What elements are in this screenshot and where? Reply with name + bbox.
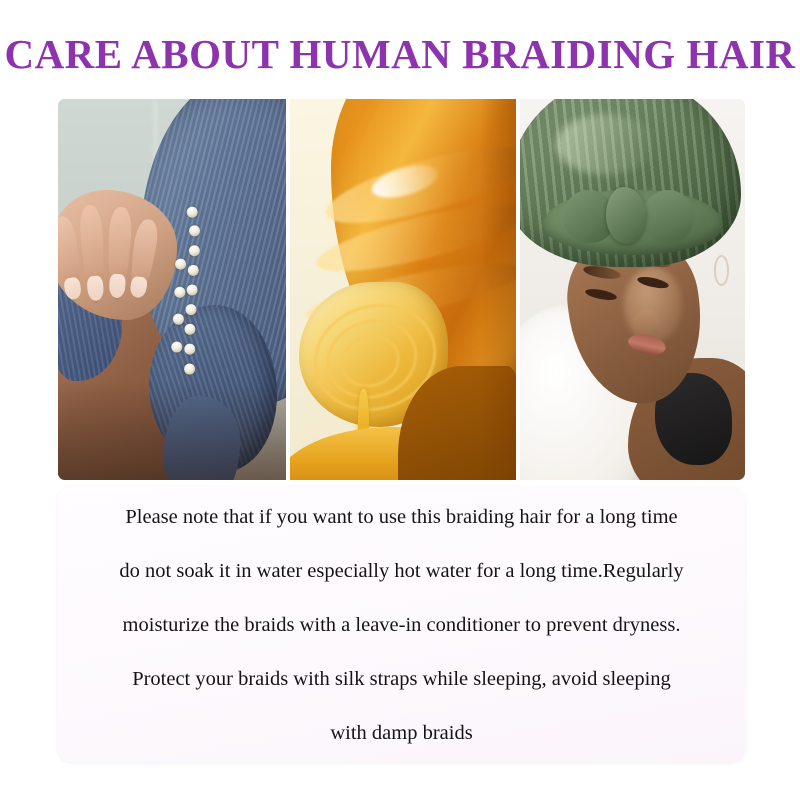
panel1-finger <box>79 204 108 304</box>
pearl-bead <box>183 322 197 336</box>
pearl-bead <box>187 263 201 277</box>
panel2-edge-shadow <box>480 99 516 480</box>
panel1-bottom-shadow <box>58 381 286 480</box>
pearl-bead <box>170 340 184 354</box>
gallery-image-hand-head-wrap <box>58 99 286 480</box>
panel3-bow-knot <box>606 187 647 244</box>
pearl-bead <box>186 205 200 219</box>
pearl-bead <box>188 223 202 237</box>
pearl-bead <box>188 243 202 257</box>
care-instruction-line: Please note that if you want to use this… <box>76 490 727 544</box>
image-gallery-strip <box>58 99 745 480</box>
pearl-bead <box>174 257 188 271</box>
care-instruction-line: with damp braids <box>76 706 727 760</box>
panel1-finger <box>105 207 132 301</box>
poster-root: CARE ABOUT HUMAN BRAIDING HAIR <box>0 0 800 800</box>
care-instruction-line: moisturize the braids with a leave-in co… <box>76 598 727 652</box>
pearl-bead <box>172 312 186 326</box>
care-instructions-card: Please note that if you want to use this… <box>58 487 745 762</box>
gallery-image-sleeping-bonnet <box>520 99 745 480</box>
care-instruction-line: do not soak it in water especially hot w… <box>76 544 727 598</box>
pearl-bead <box>173 285 187 299</box>
title-bar: CARE ABOUT HUMAN BRAIDING HAIR <box>0 26 800 82</box>
page-title: CARE ABOUT HUMAN BRAIDING HAIR <box>4 34 795 75</box>
care-instruction-line: Protect your braids with silk straps whi… <box>76 652 727 706</box>
gallery-image-oil-bottle <box>290 99 516 480</box>
pearl-bead <box>185 303 199 317</box>
pearl-bead <box>183 362 197 376</box>
pearl-bead <box>186 283 200 297</box>
panel3-earring <box>714 255 729 286</box>
panel3-bonnet-sheen <box>556 114 655 175</box>
pearl-bead <box>183 342 197 356</box>
